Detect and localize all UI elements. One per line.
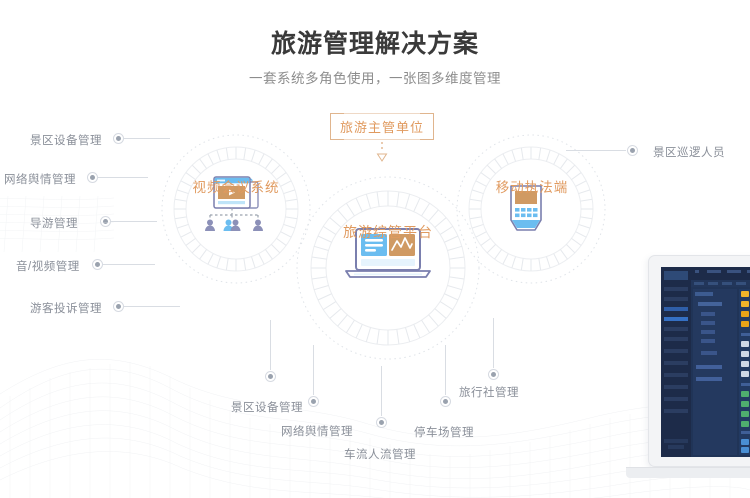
infographic-canvas: 旅游管理解决方案 一套系统多角色使用，一张图多维度管理 旅游主管单位 [0,0,750,498]
connector-label-bottom-2[interactable]: 车流人流管理 [344,446,416,462]
connector-line-left-4 [124,306,180,307]
laptop-mockup [648,255,750,498]
connector-line-right-0 [566,150,626,151]
connector-line-left-2 [111,221,157,222]
connector-dot-left-3 [92,259,103,270]
dashboard-nav-item[interactable] [664,297,688,301]
dashboard-sidebar [661,267,691,457]
dashboard-nav-item[interactable] [664,349,688,353]
connector-dot-left-0 [113,133,124,144]
dashboard-nav-item[interactable] [664,409,688,413]
connector-label-bottom-3[interactable]: 停车场管理 [414,424,474,440]
connector-label-bottom-0[interactable]: 景区设备管理 [231,399,303,415]
connector-line-bottom-3 [445,345,446,395]
connector-label-left-3[interactable]: 音/视频管理 [16,258,80,274]
dashboard-screen [661,267,750,457]
connector-dot-left-1 [87,172,98,183]
connector-dot-bottom-4 [488,369,499,380]
dashboard-nav-item[interactable] [664,397,688,401]
connector-line-left-1 [98,177,148,178]
node-label-tourism-platform: 旅游综管平台 [317,222,459,242]
node-mobile-enforcement[interactable]: 移动执法端 [470,176,594,196]
connector-label-right-0[interactable]: 景区巡逻人员 [653,144,725,160]
authority-label: 旅游主管单位 [340,117,424,136]
dashboard-nav-item[interactable] [664,361,688,365]
dashboard-nav-item[interactable] [664,307,688,311]
dashboard-logo [664,271,688,280]
connector-dot-left-2 [100,216,111,227]
dashboard-nav-item[interactable] [664,373,688,377]
node-tourism-platform[interactable]: 旅游综管平台 [317,222,459,242]
connector-dot-right-0 [627,145,638,156]
box-edge-top [344,113,420,114]
dashboard-tree-panel [693,289,737,455]
connector-label-bottom-4[interactable]: 旅行社管理 [459,384,519,400]
connector-line-bottom-4 [493,318,494,368]
connector-label-left-4[interactable]: 游客投诉管理 [30,300,102,316]
connector-label-left-0[interactable]: 景区设备管理 [30,132,102,148]
connector-dot-bottom-0 [265,371,276,382]
dashboard-subbar [691,280,750,287]
connector-dot-left-4 [113,301,124,312]
bracket-bottom-right [419,125,434,140]
connector-dot-bottom-3 [440,396,451,407]
dotted-down-arrow-icon [374,141,390,163]
connector-line-left-0 [124,138,170,139]
box-edge-bottom [344,139,420,140]
dashboard-nav-item-active[interactable] [664,317,688,321]
node-label-video-conference: 视频会议系统 [174,176,298,196]
connector-line-bottom-0 [270,320,271,370]
bracket-bottom-left [330,125,345,140]
node-video-conference[interactable]: 视频会议系统 [174,176,298,196]
dashboard-nav-item[interactable] [664,327,688,331]
connector-label-left-1[interactable]: 网络舆情管理 [4,171,76,187]
connector-label-bottom-1[interactable]: 网络舆情管理 [281,423,353,439]
laptop-base [626,467,750,478]
connector-dot-bottom-2 [376,417,387,428]
page-title: 旅游管理解决方案 [0,24,750,60]
dashboard-sidebar-footer [668,445,684,449]
laptop-body [648,255,750,467]
dashboard-content-panel [739,289,750,455]
dashboard-sidebar-footer [664,439,688,443]
node-label-mobile-enforcement: 移动执法端 [470,176,594,196]
dashboard-main [691,267,750,457]
connector-line-left-3 [103,264,155,265]
dashboard-topbar [691,267,750,280]
connector-dot-bottom-1 [308,396,319,407]
page-subtitle: 一套系统多角色使用，一张图多维度管理 [0,67,750,87]
dashboard-nav-item[interactable] [664,287,688,291]
connector-label-left-2[interactable]: 导游管理 [30,215,78,231]
authority-box: 旅游主管单位 [330,113,434,140]
dashboard-nav-item[interactable] [664,337,688,341]
connector-line-bottom-2 [381,366,382,416]
connector-line-bottom-1 [313,345,314,395]
dashboard-nav-item[interactable] [664,385,688,389]
